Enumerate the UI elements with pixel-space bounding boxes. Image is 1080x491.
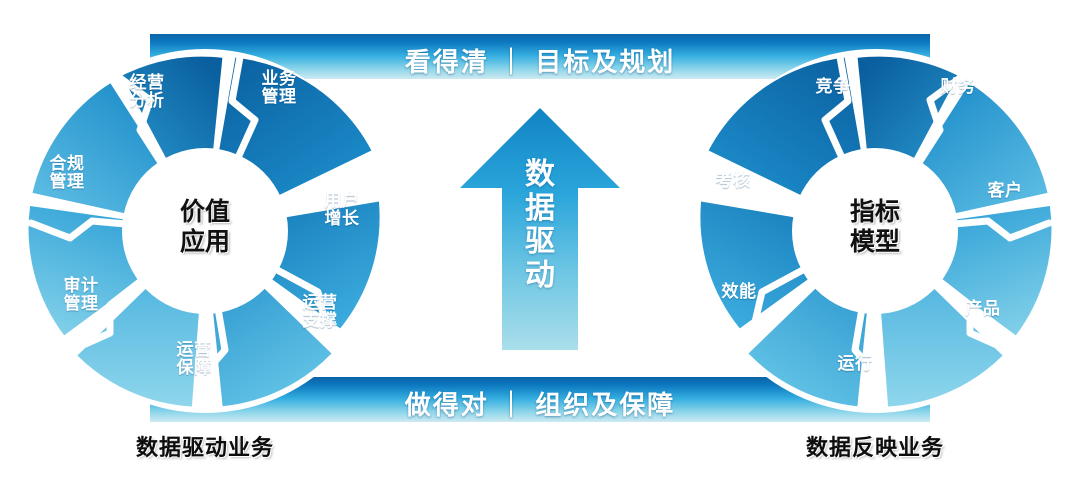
top-banner-title: 看得清 ｜ 目标及规划 xyxy=(0,42,1080,79)
left-wheel-hub-label: 价值 应用 xyxy=(130,198,280,257)
right-wheel-caption: 数据反映业务 xyxy=(725,430,1025,462)
center-arrow-label: 数 据 驱 动 xyxy=(505,158,575,292)
bottom-banner-title: 做得对 ｜ 组织及保障 xyxy=(0,385,1080,422)
right-wheel-hub-label: 指标 模型 xyxy=(800,198,950,257)
diagram-canvas: 看得清 ｜ 目标及规划 做得对 ｜ 组织及保障 数 据 驱 动 价值 应用 业务… xyxy=(0,0,1080,491)
left-wheel-caption: 数据驱动业务 xyxy=(55,430,355,462)
